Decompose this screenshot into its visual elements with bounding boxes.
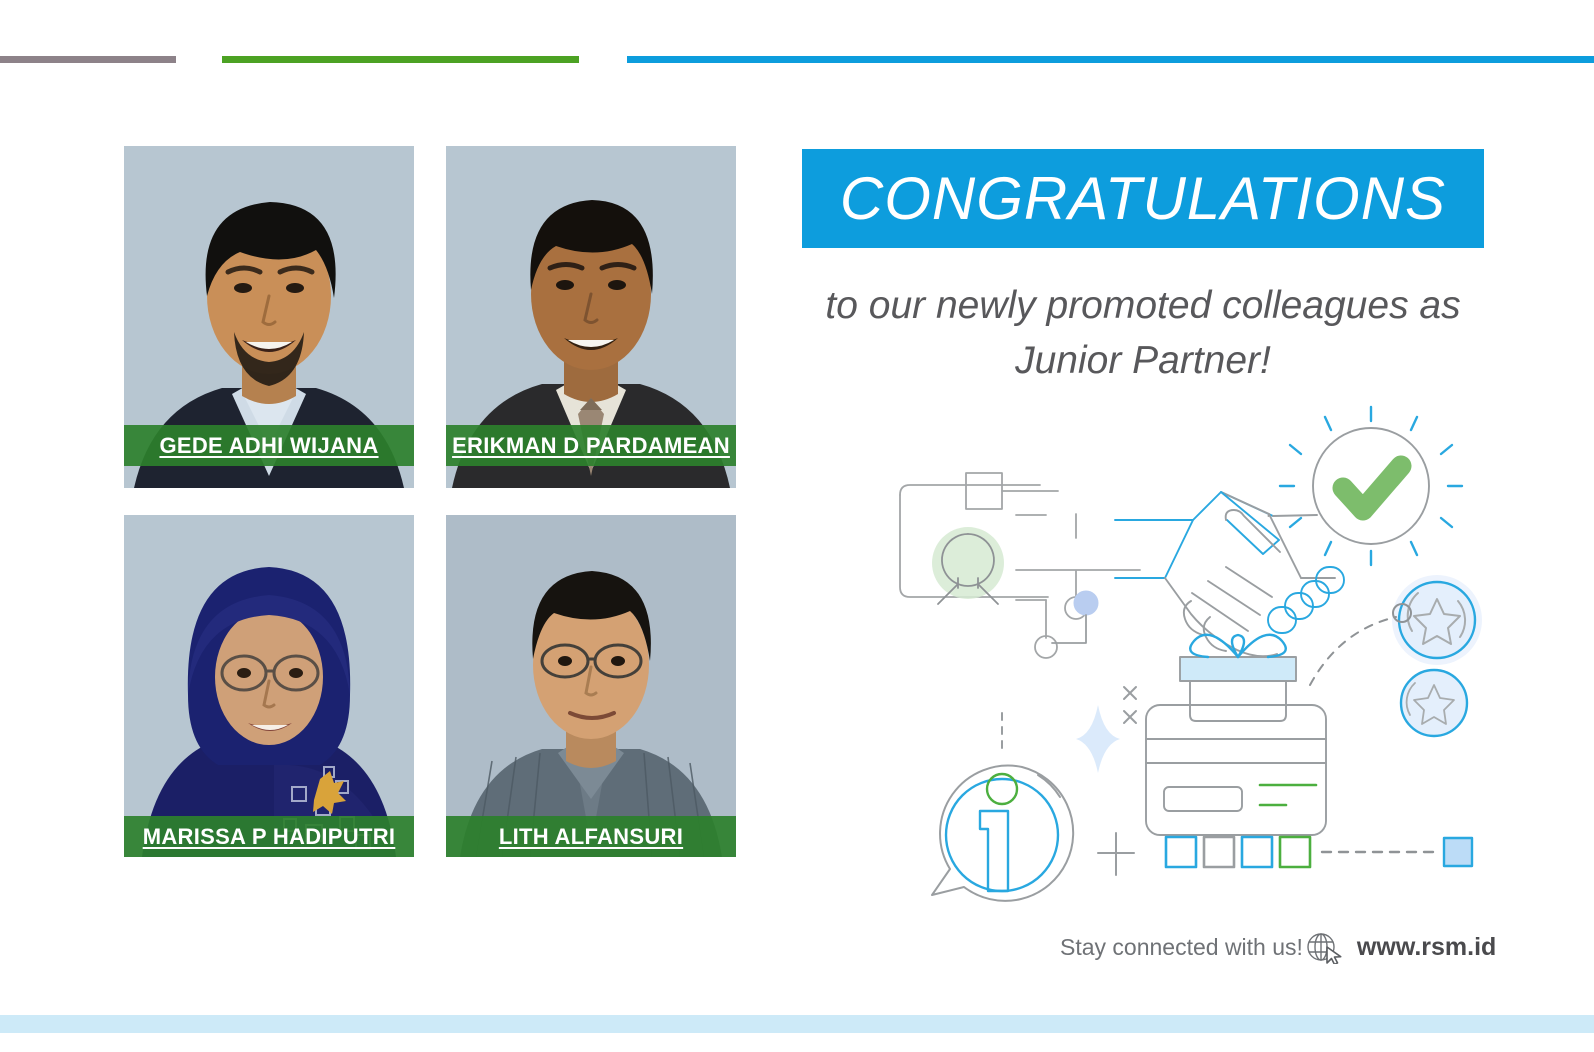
subtitle-line-2: Junior Partner! xyxy=(790,333,1496,388)
person-name-banner-4: LITH ALFANSURI xyxy=(446,816,736,857)
congratulations-banner: CONGRATULATIONS xyxy=(802,149,1484,248)
person-name-banner-2: ERIKMAN D PARDAMEAN xyxy=(446,425,736,466)
person-card-2: ERIKMAN D PARDAMEAN xyxy=(446,146,736,488)
bottom-band xyxy=(0,1015,1594,1033)
promoted-colleagues-grid: GEDE ADHI WIJANA ERIKMAN D PARDAMEAN xyxy=(124,146,728,856)
person-name-banner-1: GEDE ADHI WIJANA xyxy=(124,425,414,466)
person-card-1: GEDE ADHI WIJANA xyxy=(124,146,414,488)
person-name-label-3: MARISSA P HADIPUTRI xyxy=(143,824,396,850)
person-name-label-2: ERIKMAN D PARDAMEAN xyxy=(452,433,730,459)
person-name-banner-3: MARISSA P HADIPUTRI xyxy=(124,816,414,857)
person-name-label-4: LITH ALFANSURI xyxy=(499,824,683,850)
person-card-4: LITH ALFANSURI xyxy=(446,515,736,857)
page-title: CONGRATULATIONS xyxy=(840,164,1446,233)
stay-connected-label: Stay connected with us! xyxy=(1060,934,1303,961)
congratulations-reward-illustration xyxy=(870,395,1500,905)
person-card-3: MARISSA P HADIPUTRI xyxy=(124,515,414,857)
subtitle-line-1: to our newly promoted colleagues as xyxy=(790,278,1496,333)
globe-cursor-icon xyxy=(1305,930,1343,964)
website-url: www.rsm.id xyxy=(1357,933,1496,962)
subtitle: to our newly promoted colleagues as Juni… xyxy=(790,278,1496,389)
top-rule-blue xyxy=(627,56,1594,63)
portrait-photo-marissa-p-hadiputri xyxy=(124,515,414,857)
footer-contact: Stay connected with us! www.rsm.id xyxy=(1060,930,1496,964)
top-rule-gray xyxy=(0,56,176,63)
person-name-label-1: GEDE ADHI WIJANA xyxy=(159,433,378,459)
portrait-photo-lith-alfansuri xyxy=(446,515,736,857)
top-rule-green xyxy=(222,56,579,63)
